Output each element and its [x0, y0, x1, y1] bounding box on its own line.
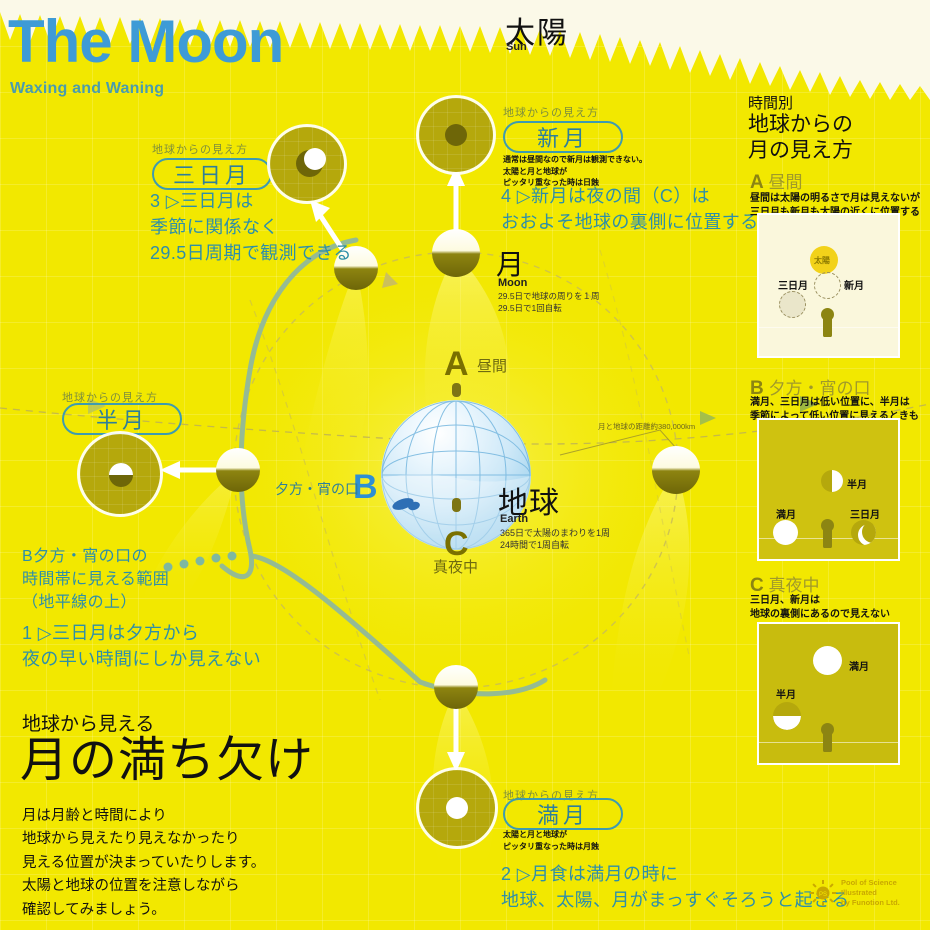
- panel-a-crescent: [779, 291, 806, 318]
- time-marker-c-label: 真夜中: [433, 556, 478, 577]
- panel-b-half-moon: [821, 470, 843, 492]
- see-label-shingetsu: 地球からの見え方: [503, 104, 599, 120]
- panel-a-crescent-label: 三日月: [778, 277, 808, 292]
- bottom-heading-large: 月の満ち欠け: [20, 735, 314, 788]
- sun-burst-logo-icon: PS: [810, 880, 836, 906]
- time-marker-a-letter: A: [444, 347, 469, 381]
- panel-a-title-text: 昼間: [768, 173, 802, 192]
- panel-c-title-text: 真夜中: [768, 576, 819, 595]
- time-marker-a-label: 昼間: [477, 355, 507, 376]
- panel-b-full-moon: [773, 520, 798, 545]
- panel-b-half-moon-label: 半月: [847, 476, 867, 491]
- panel-a-letter: A: [750, 172, 764, 193]
- step-1-text: 1 ▷三日月は夕方から 夜の早い時間にしか見えない: [22, 620, 261, 672]
- panel-c-half-moon-label: 半月: [776, 686, 796, 701]
- panel-a-new-moon-label: 新月: [844, 277, 864, 292]
- phase-disk-mangetsu: [419, 770, 495, 846]
- right-column-heading-small: 時間別: [748, 92, 793, 113]
- moon-label-en: Moon: [498, 277, 527, 289]
- micro-note-mangetsu: 太陽と月と地球が ピッタリ重なった時は月蝕: [503, 829, 599, 852]
- phase-pill-shingetsu: 新月: [503, 121, 623, 153]
- panel-c-scene: 満月 半月: [757, 622, 900, 765]
- distance-annotation: 月と地球の距離約380,000km: [598, 421, 695, 432]
- phase-disk-mikazuki: [270, 127, 344, 201]
- panel-c-desc: 三日月、新月は 地球の裏側にあるので見えない: [750, 594, 890, 622]
- see-label-mikazuki: 地球からの見え方: [152, 141, 248, 157]
- panel-b-crescent: [851, 520, 876, 545]
- step-4-text: 4 ▷新月は夜の間（C）は おおよそ地球の裏側に位置する: [501, 183, 759, 235]
- panel-a-sun-label: 太陽: [814, 255, 830, 266]
- panel-b-scene: 半月 満月 三日月: [757, 418, 900, 561]
- time-marker-a-dot: [452, 383, 461, 397]
- panel-b-full-moon-label: 満月: [776, 506, 796, 521]
- panel-c-full-moon-label: 満月: [849, 658, 869, 673]
- phase-disk-shingetsu: [419, 98, 493, 172]
- logo-text: Pool of Science Illustrated by Funotion …: [841, 878, 900, 908]
- step-2-text: 2 ▷月食は満月の時に 地球、太陽、月がまっすぐそろうと起きる: [501, 861, 850, 913]
- bottom-heading-small: 地球から見える: [22, 709, 154, 736]
- phase-disk-hangetsu: [80, 434, 160, 514]
- b-range-note: B夕方・宵の口の 時間帯に見える範囲 （地平線の上）: [22, 545, 169, 615]
- time-marker-b-label: 夕方・宵の口: [275, 479, 359, 499]
- phase-pill-hangetsu: 半月: [62, 403, 182, 435]
- panel-c-full-moon: [813, 646, 842, 675]
- step-3-text: 3 ▷三日月は 季節に関係なく 29.5日周期で観測できる: [150, 188, 352, 266]
- panel-c-half-moon: [773, 702, 801, 730]
- panel-a-scene: 太陽 新月 三日月: [757, 213, 900, 358]
- logo-line-1: Pool of Science: [841, 878, 900, 888]
- svg-text:PS: PS: [819, 892, 827, 898]
- earth-note: 365日で太陽のまわりを1周 24時間で1周自転: [500, 527, 610, 551]
- panel-b-crescent-label: 三日月: [850, 506, 880, 521]
- phase-pill-mikazuki: 三日月: [152, 158, 272, 190]
- time-marker-c-dot: [452, 498, 461, 512]
- phase-pill-mangetsu: 満月: [503, 798, 623, 830]
- logo-line-3: by Funotion Ltd.: [841, 898, 900, 908]
- right-column-heading-large: 地球からの 月の見え方: [748, 112, 853, 163]
- logo-line-2: Illustrated: [841, 888, 900, 898]
- earth-label-en: Earth: [500, 513, 528, 525]
- panel-a-title: A 昼間: [750, 168, 802, 194]
- bottom-body-text: 月は月齢と時間により 地球から見えたり見えなかったり 見える位置が決まっていたり…: [22, 805, 265, 922]
- panel-c-letter: C: [750, 575, 764, 596]
- panel-a-new-moon: [814, 272, 841, 299]
- infographic-canvas: The Moon Waxing and Waning 太陽 Sun: [0, 0, 930, 930]
- publisher-logo: PS Pool of Science Illustrated by Funoti…: [810, 878, 900, 908]
- moon-note: 29.5日で地球の周りを１周 29.5日で1回自転: [498, 291, 600, 315]
